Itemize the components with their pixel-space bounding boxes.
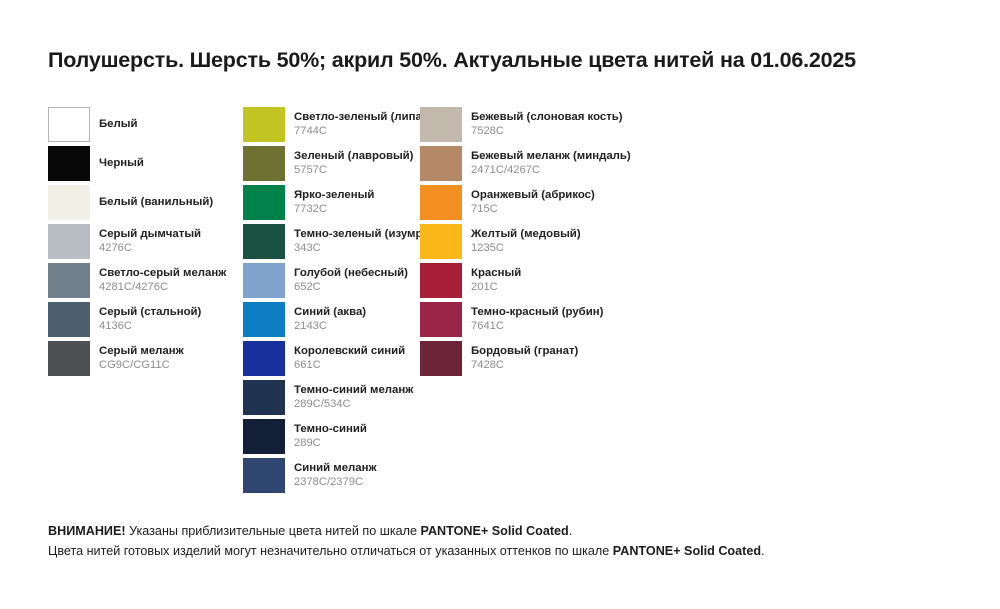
swatch-text: Темно-зеленый (изумруд)343C (294, 228, 439, 256)
color-chip (48, 146, 90, 181)
pantone-code: 7744C (294, 125, 426, 138)
color-chip (48, 302, 90, 337)
color-name: Черный (99, 157, 144, 170)
swatch-text: Зеленый (лавровый)5757C (294, 150, 413, 178)
swatch-text: Серый дымчатый4276C (99, 228, 201, 256)
pantone-code: 343C (294, 242, 439, 255)
footer-pantone-label-2: PANTONE+ Solid Coated (613, 544, 761, 558)
swatch-row: Темно-зеленый (изумруд)343C (243, 224, 423, 259)
color-name: Бордовый (гранат) (471, 345, 578, 358)
swatch-text: Белый (99, 118, 138, 131)
swatch-row: Бежевый меланж (миндаль)2471C/4267C (420, 146, 650, 181)
swatch-row: Серый (стальной)4136C (48, 302, 238, 337)
color-chip (48, 341, 90, 376)
color-chip (48, 224, 90, 259)
color-name: Голубой (небесный) (294, 267, 408, 280)
pantone-code: 4281C/4276C (99, 281, 226, 294)
swatch-row: Темно-красный (рубин)7641C (420, 302, 650, 337)
color-name: Бежевый меланж (миндаль) (471, 150, 631, 163)
swatch-text: Светло-зеленый (липа)7744C (294, 111, 426, 139)
swatch-text: Синий меланж2378C/2379C (294, 462, 377, 490)
color-name: Ярко-зеленый (294, 189, 374, 202)
swatch-row: Белый (ванильный) (48, 185, 238, 220)
swatch-row: Белый (48, 107, 238, 142)
color-name: Оранжевый (абрикос) (471, 189, 595, 202)
color-name: Королевский синий (294, 345, 405, 358)
swatch-row: Темно-синий289C (243, 419, 423, 454)
color-chip (420, 302, 462, 337)
swatch-row: Ярко-зеленый7732C (243, 185, 423, 220)
color-chip (48, 107, 90, 142)
swatch-row: Темно-синий меланж289C/534C (243, 380, 423, 415)
footer-line-1-end: . (569, 524, 573, 538)
color-chip (243, 185, 285, 220)
swatch-row: Желтый (медовый)1235C (420, 224, 650, 259)
footer-attention-label: ВНИМАНИЕ! (48, 524, 126, 538)
color-name: Серый (стальной) (99, 306, 201, 319)
color-chip (243, 419, 285, 454)
footer-line-2: Цвета нитей готовых изделий могут незнач… (48, 541, 968, 561)
pantone-code: CG9C/CG11C (99, 359, 184, 372)
swatch-text: Темно-красный (рубин)7641C (471, 306, 603, 334)
footer-line-1-text: Указаны приблизительные цвета нитей по ш… (126, 524, 421, 538)
color-name: Бежевый (слоновая кость) (471, 111, 623, 124)
footer-line-2-end: . (761, 544, 765, 558)
color-name: Синий (аква) (294, 306, 366, 319)
color-name: Красный (471, 267, 521, 280)
swatch-row: Серый меланжCG9C/CG11C (48, 341, 238, 376)
swatch-row: Бордовый (гранат)7428C (420, 341, 650, 376)
swatch-text: Голубой (небесный)652C (294, 267, 408, 295)
swatch-column-grays: БелыйЧерныйБелый (ванильный)Серый дымчат… (48, 107, 238, 380)
swatch-text: Красный201C (471, 267, 521, 295)
swatch-text: Оранжевый (абрикос)715C (471, 189, 595, 217)
swatch-text: Белый (ванильный) (99, 196, 213, 209)
swatch-text: Синий (аква)2143C (294, 306, 366, 334)
swatch-row: Бежевый (слоновая кость)7528C (420, 107, 650, 142)
color-name: Темно-синий (294, 423, 367, 436)
pantone-code: 4276C (99, 242, 201, 255)
color-chip (243, 263, 285, 298)
swatch-column-warm-reds: Бежевый (слоновая кость)7528CБежевый мел… (420, 107, 650, 380)
pantone-code: 652C (294, 281, 408, 294)
color-chip (48, 185, 90, 220)
color-name: Синий меланж (294, 462, 377, 475)
pantone-code: 2378C/2379C (294, 476, 377, 489)
swatch-text: Светло-серый меланж4281C/4276C (99, 267, 226, 295)
pantone-code: 7428C (471, 359, 578, 372)
color-name: Серый дымчатый (99, 228, 201, 241)
color-chip (420, 107, 462, 142)
color-name: Темно-синий меланж (294, 384, 413, 397)
swatch-text: Бежевый меланж (миндаль)2471C/4267C (471, 150, 631, 178)
color-chip (48, 263, 90, 298)
color-chip (243, 107, 285, 142)
color-chip (243, 302, 285, 337)
color-name: Серый меланж (99, 345, 184, 358)
pantone-code: 7641C (471, 320, 603, 333)
color-name: Темно-зеленый (изумруд) (294, 228, 439, 241)
swatch-text: Черный (99, 157, 144, 170)
footer-pantone-label-1: PANTONE+ Solid Coated (420, 524, 568, 538)
color-chip (243, 224, 285, 259)
pantone-code: 2143C (294, 320, 366, 333)
footer-line-1: ВНИМАНИЕ! Указаны приблизительные цвета … (48, 521, 968, 541)
color-chip (243, 146, 285, 181)
color-chip (420, 341, 462, 376)
swatch-row: Черный (48, 146, 238, 181)
swatch-column-greens-blues: Светло-зеленый (липа)7744CЗеленый (лавро… (243, 107, 423, 497)
pantone-code: 7528C (471, 125, 623, 138)
color-name: Желтый (медовый) (471, 228, 581, 241)
color-name: Зеленый (лавровый) (294, 150, 413, 163)
swatch-row: Синий (аква)2143C (243, 302, 423, 337)
swatch-row: Светло-серый меланж4281C/4276C (48, 263, 238, 298)
footer-line-2-text: Цвета нитей готовых изделий могут незнач… (48, 544, 613, 558)
color-name: Белый (ванильный) (99, 196, 213, 209)
swatch-text: Бежевый (слоновая кость)7528C (471, 111, 623, 139)
color-chip (420, 224, 462, 259)
pantone-code: 4136C (99, 320, 201, 333)
swatch-text: Королевский синий661C (294, 345, 405, 373)
pantone-code: 201C (471, 281, 521, 294)
pantone-code: 289C/534C (294, 398, 413, 411)
swatch-row: Голубой (небесный)652C (243, 263, 423, 298)
pantone-code: 2471C/4267C (471, 164, 631, 177)
color-name: Белый (99, 118, 138, 131)
pantone-code: 7732C (294, 203, 374, 216)
color-chip (420, 146, 462, 181)
swatch-text: Серый (стальной)4136C (99, 306, 201, 334)
pantone-code: 1235C (471, 242, 581, 255)
color-name: Темно-красный (рубин) (471, 306, 603, 319)
swatch-text: Серый меланжCG9C/CG11C (99, 345, 184, 373)
swatch-row: Зеленый (лавровый)5757C (243, 146, 423, 181)
swatch-text: Ярко-зеленый7732C (294, 189, 374, 217)
swatch-row: Красный201C (420, 263, 650, 298)
swatch-row: Королевский синий661C (243, 341, 423, 376)
footer-notes: ВНИМАНИЕ! Указаны приблизительные цвета … (48, 521, 968, 562)
pantone-code: 289C (294, 437, 367, 450)
color-chip (243, 458, 285, 493)
swatch-row: Серый дымчатый4276C (48, 224, 238, 259)
pantone-code: 661C (294, 359, 405, 372)
swatch-text: Темно-синий289C (294, 423, 367, 451)
color-chip (420, 263, 462, 298)
swatch-row: Светло-зеленый (липа)7744C (243, 107, 423, 142)
swatch-row: Оранжевый (абрикос)715C (420, 185, 650, 220)
pantone-code: 715C (471, 203, 595, 216)
swatch-text: Темно-синий меланж289C/534C (294, 384, 413, 412)
color-chip (243, 380, 285, 415)
color-name: Светло-зеленый (липа) (294, 111, 426, 124)
pantone-code: 5757C (294, 164, 413, 177)
swatch-row: Синий меланж2378C/2379C (243, 458, 423, 493)
swatch-text: Желтый (медовый)1235C (471, 228, 581, 256)
color-chip (243, 341, 285, 376)
color-name: Светло-серый меланж (99, 267, 226, 280)
page-title: Полушерсть. Шерсть 50%; акрил 50%. Актуа… (48, 48, 968, 73)
color-chip (420, 185, 462, 220)
swatch-text: Бордовый (гранат)7428C (471, 345, 578, 373)
